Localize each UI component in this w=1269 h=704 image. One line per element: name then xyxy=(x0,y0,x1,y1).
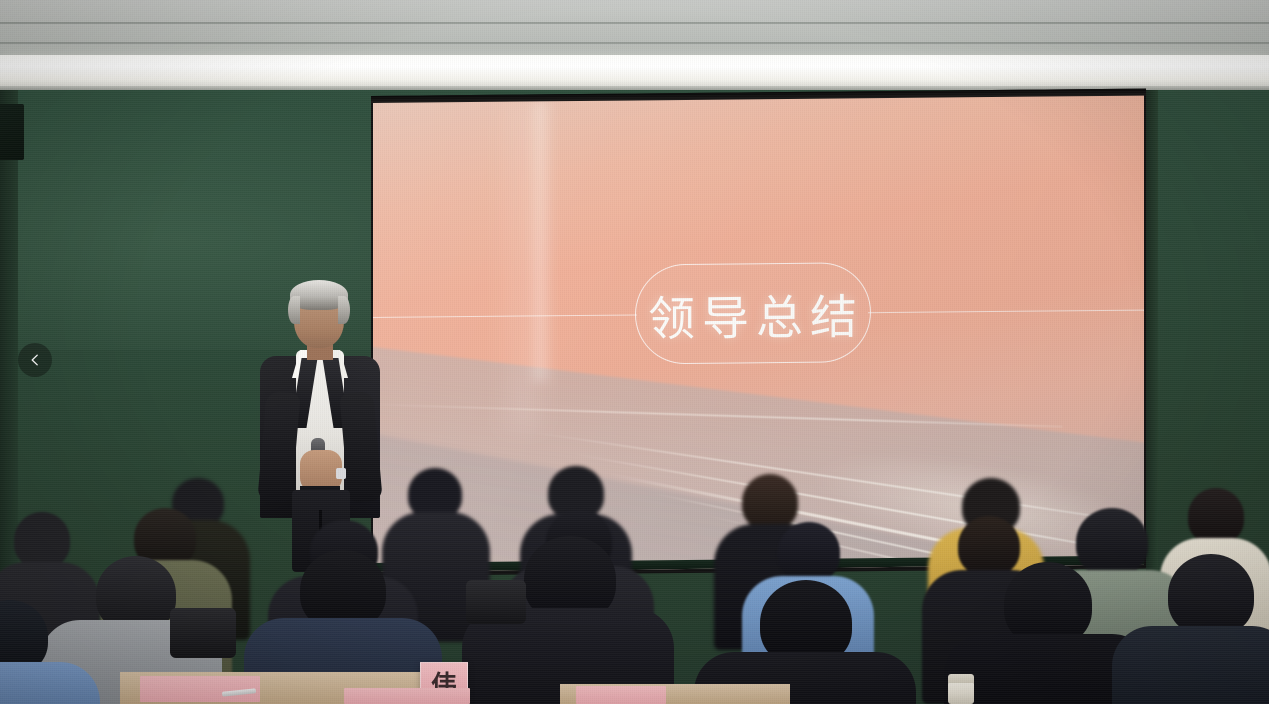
audience xyxy=(0,430,1269,704)
photo-viewer-scene: 领导总结 xyxy=(0,0,1269,704)
chevron-left-icon xyxy=(27,352,43,368)
slide-title-pill: 领导总结 xyxy=(635,262,871,364)
presenter-hair-right xyxy=(338,296,350,324)
pink-paper-right xyxy=(576,686,666,704)
chair-back-2 xyxy=(466,580,526,624)
thermos-cap xyxy=(948,674,974,683)
slide-title: 领导总结 xyxy=(642,278,864,349)
thermos-cup xyxy=(948,680,974,704)
pink-paper-center xyxy=(344,688,470,704)
ceiling xyxy=(0,0,1269,60)
ceiling-speaker-box xyxy=(0,104,24,160)
previous-image-button[interactable] xyxy=(18,343,52,377)
ceiling-light-strip xyxy=(0,55,1269,88)
ceiling-seam-1 xyxy=(0,22,1269,24)
chair-back xyxy=(170,608,236,658)
projector-light-streak xyxy=(528,101,554,381)
presenter-hair-left xyxy=(288,296,300,324)
slide-title-rule-right xyxy=(868,310,1144,314)
ceiling-seam-2 xyxy=(0,42,1269,44)
